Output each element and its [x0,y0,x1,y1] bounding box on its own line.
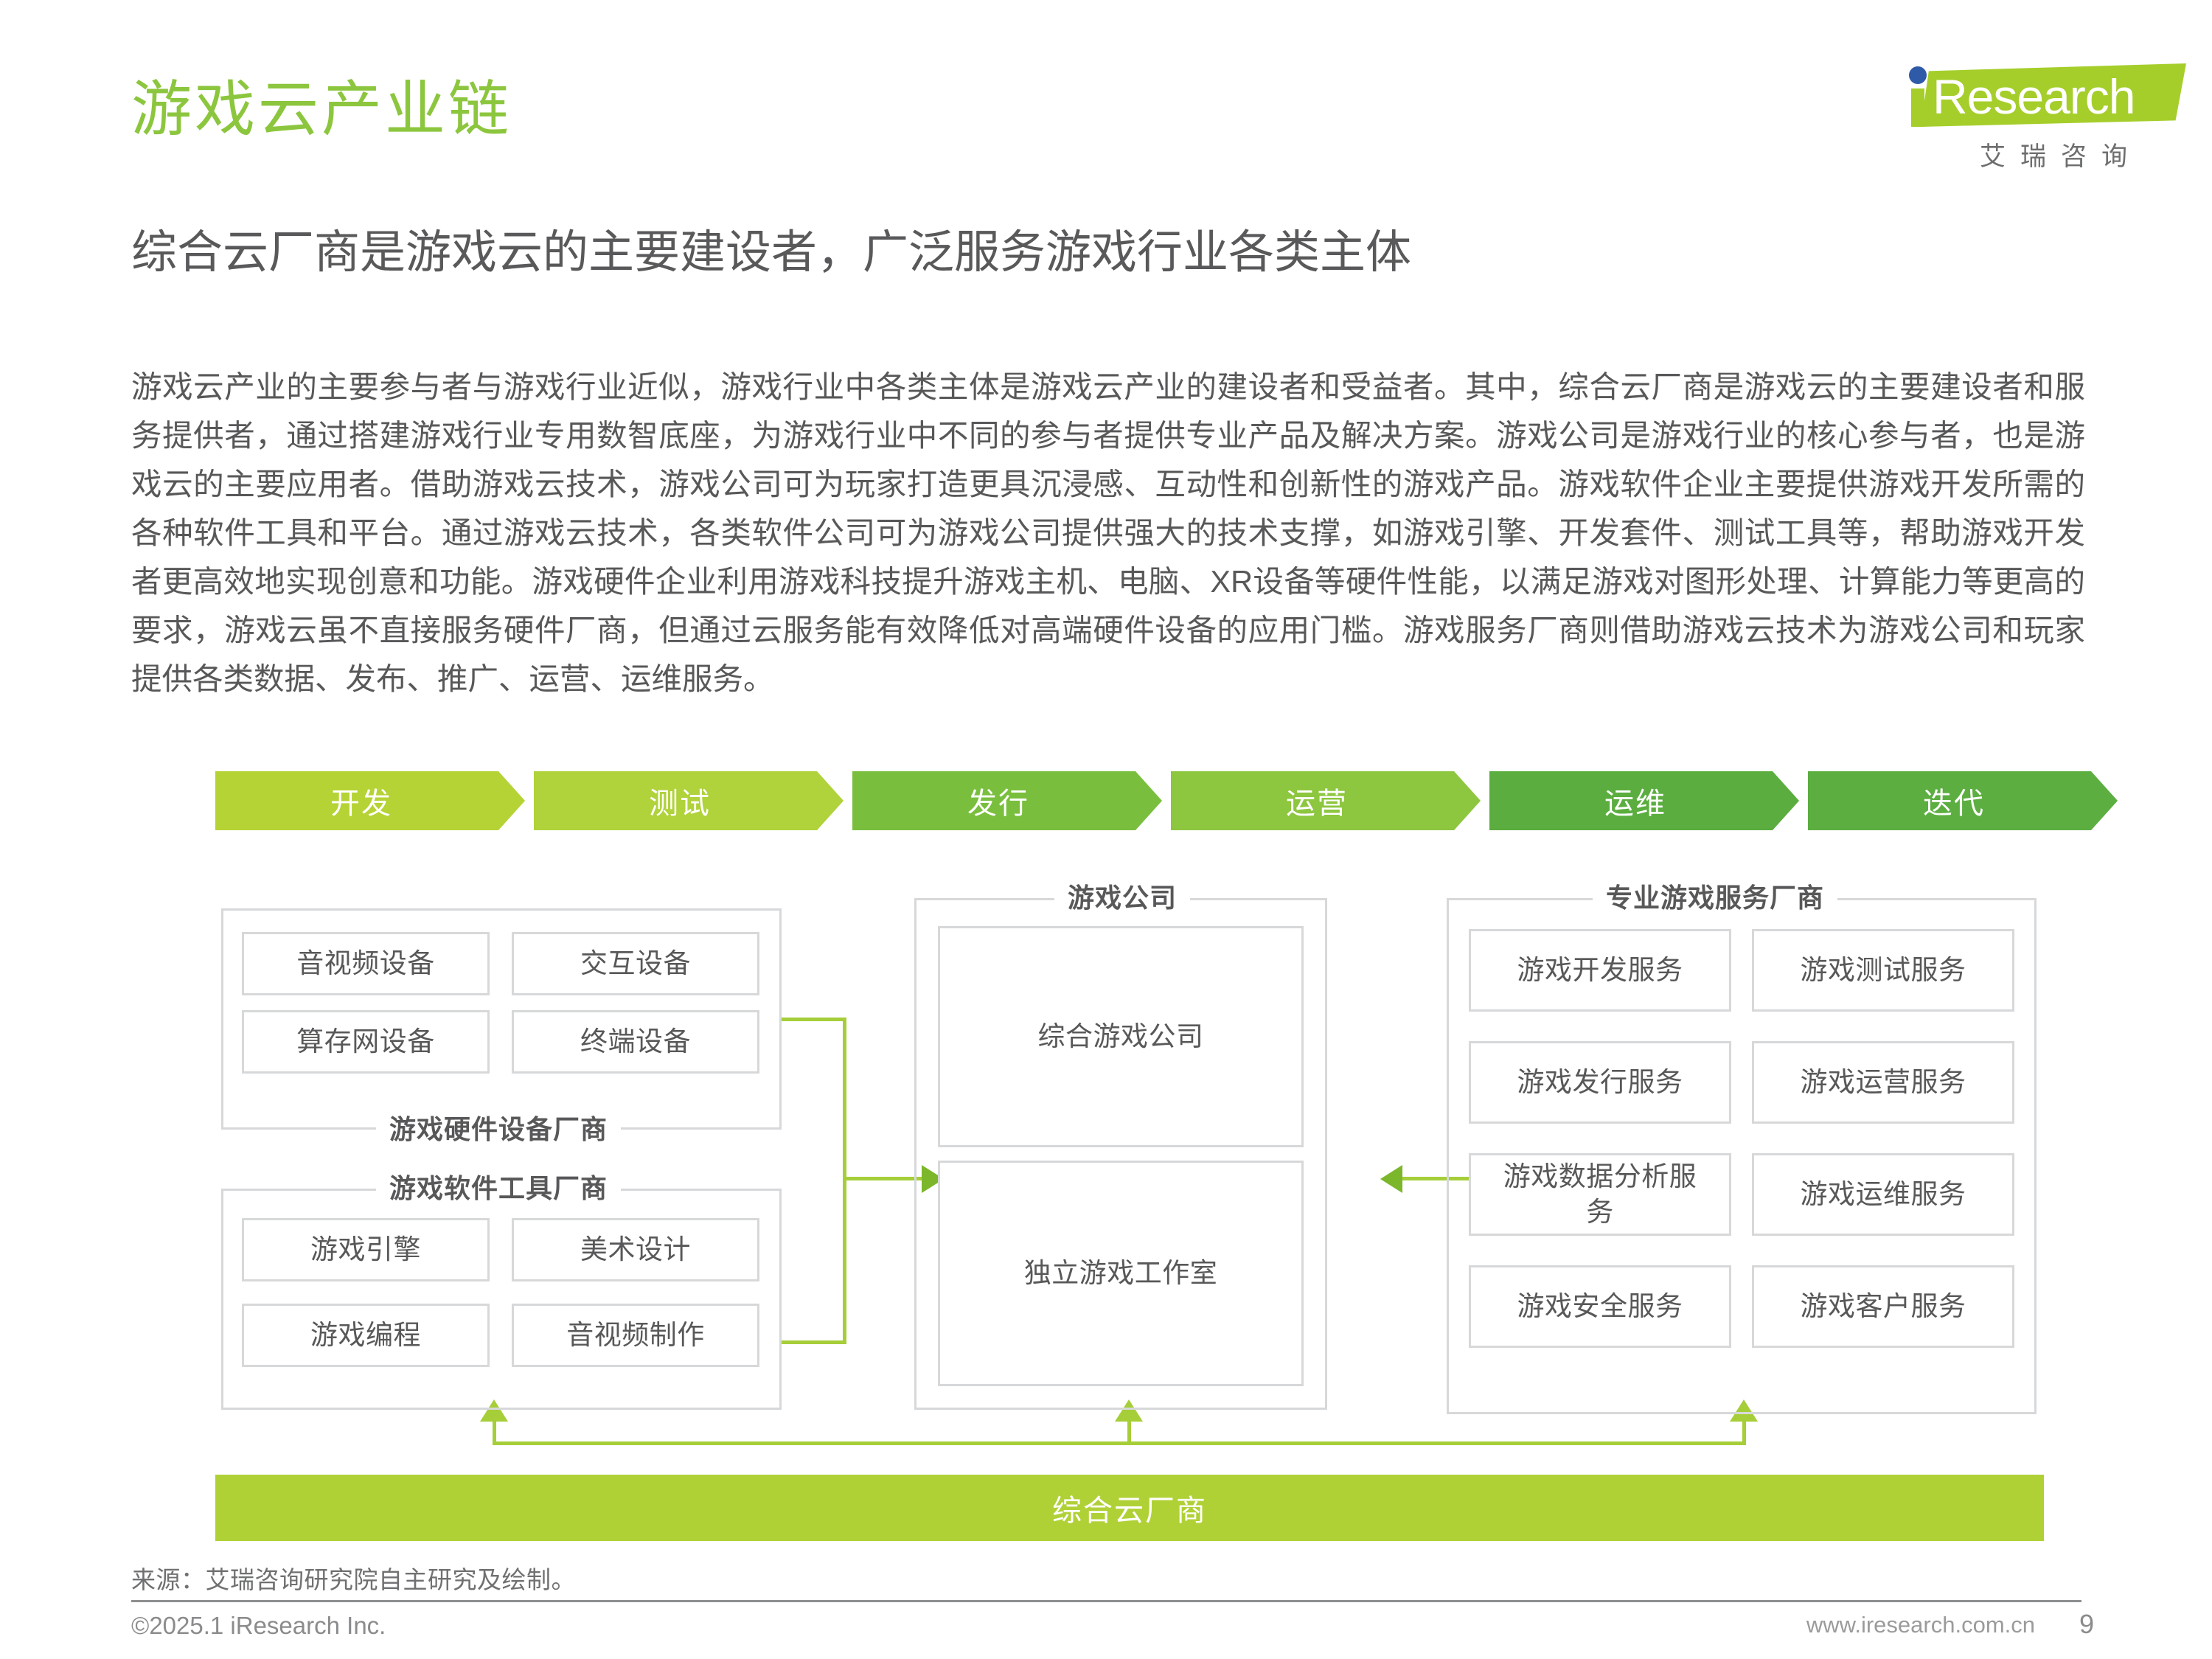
arrow-services-to-company-icon [1380,1165,1402,1193]
connector-hardware-stub [780,1018,846,1021]
group-company-title: 游戏公司 [1054,882,1190,914]
connector-cloud-horizontal [493,1441,1746,1445]
footer-page-number: 9 [2079,1609,2094,1640]
cloud-vendor-label: 综合云厂商 [1052,1486,1207,1529]
source-note: 来源：艾瑞咨询研究院自主研究及绘制。 [131,1560,576,1596]
group-software-title: 游戏软件工具厂商 [376,1172,621,1205]
cell-hardware-1: 交互设备 [512,932,759,995]
group-services-title: 专业游戏服务厂商 [1593,882,1837,914]
connector-cloud-riser-mid [1127,1419,1131,1445]
cell-software-1: 美术设计 [512,1218,759,1281]
connector-cloud-riser-left [493,1419,496,1445]
cell-company-0: 综合游戏公司 [938,926,1304,1147]
cell-services-3: 游戏运营服务 [1752,1041,2014,1124]
cell-services-1: 游戏测试服务 [1752,929,2014,1012]
cell-hardware-2: 算存网设备 [242,1010,490,1074]
cell-services-0: 游戏开发服务 [1469,929,1731,1012]
cell-services-6: 游戏安全服务 [1469,1265,1731,1348]
cell-software-2: 游戏编程 [242,1304,490,1367]
cell-hardware-0: 音视频设备 [242,932,490,995]
cell-services-2: 游戏发行服务 [1469,1041,1731,1124]
cell-services-7: 游戏客户服务 [1752,1265,2014,1348]
cell-software-3: 音视频制作 [512,1304,759,1367]
cell-services-4: 游戏数据分析服务 [1469,1153,1731,1236]
slide-page: Research 艾瑞咨询 游戏云产业链 综合云厂商是游戏云的主要建设者，广泛服… [0,0,2212,1659]
footer-copyright: ©2025.1 iResearch Inc. [131,1612,386,1640]
cell-services-5: 游戏运维服务 [1752,1153,2014,1236]
cloud-vendor-bar: 综合云厂商 [215,1475,2044,1541]
cell-company-1: 独立游戏工作室 [938,1161,1304,1386]
group-hardware-title: 游戏硬件设备厂商 [376,1113,621,1146]
value-chain-diagram: 游戏硬件设备厂商 音视频设备 交互设备 算存网设备 终端设备 游戏软件工具厂商 … [0,0,2212,1659]
footer-website-link[interactable]: www.iresearch.com.cn [1806,1612,2035,1638]
connector-software-stub [780,1340,846,1344]
connector-cloud-riser-right [1742,1419,1746,1445]
cell-software-0: 游戏引擎 [242,1218,490,1281]
connector-left-to-company [843,1177,924,1180]
footer-divider [131,1600,2081,1602]
connector-left-vertical [843,1018,846,1344]
cell-hardware-3: 终端设备 [512,1010,759,1074]
